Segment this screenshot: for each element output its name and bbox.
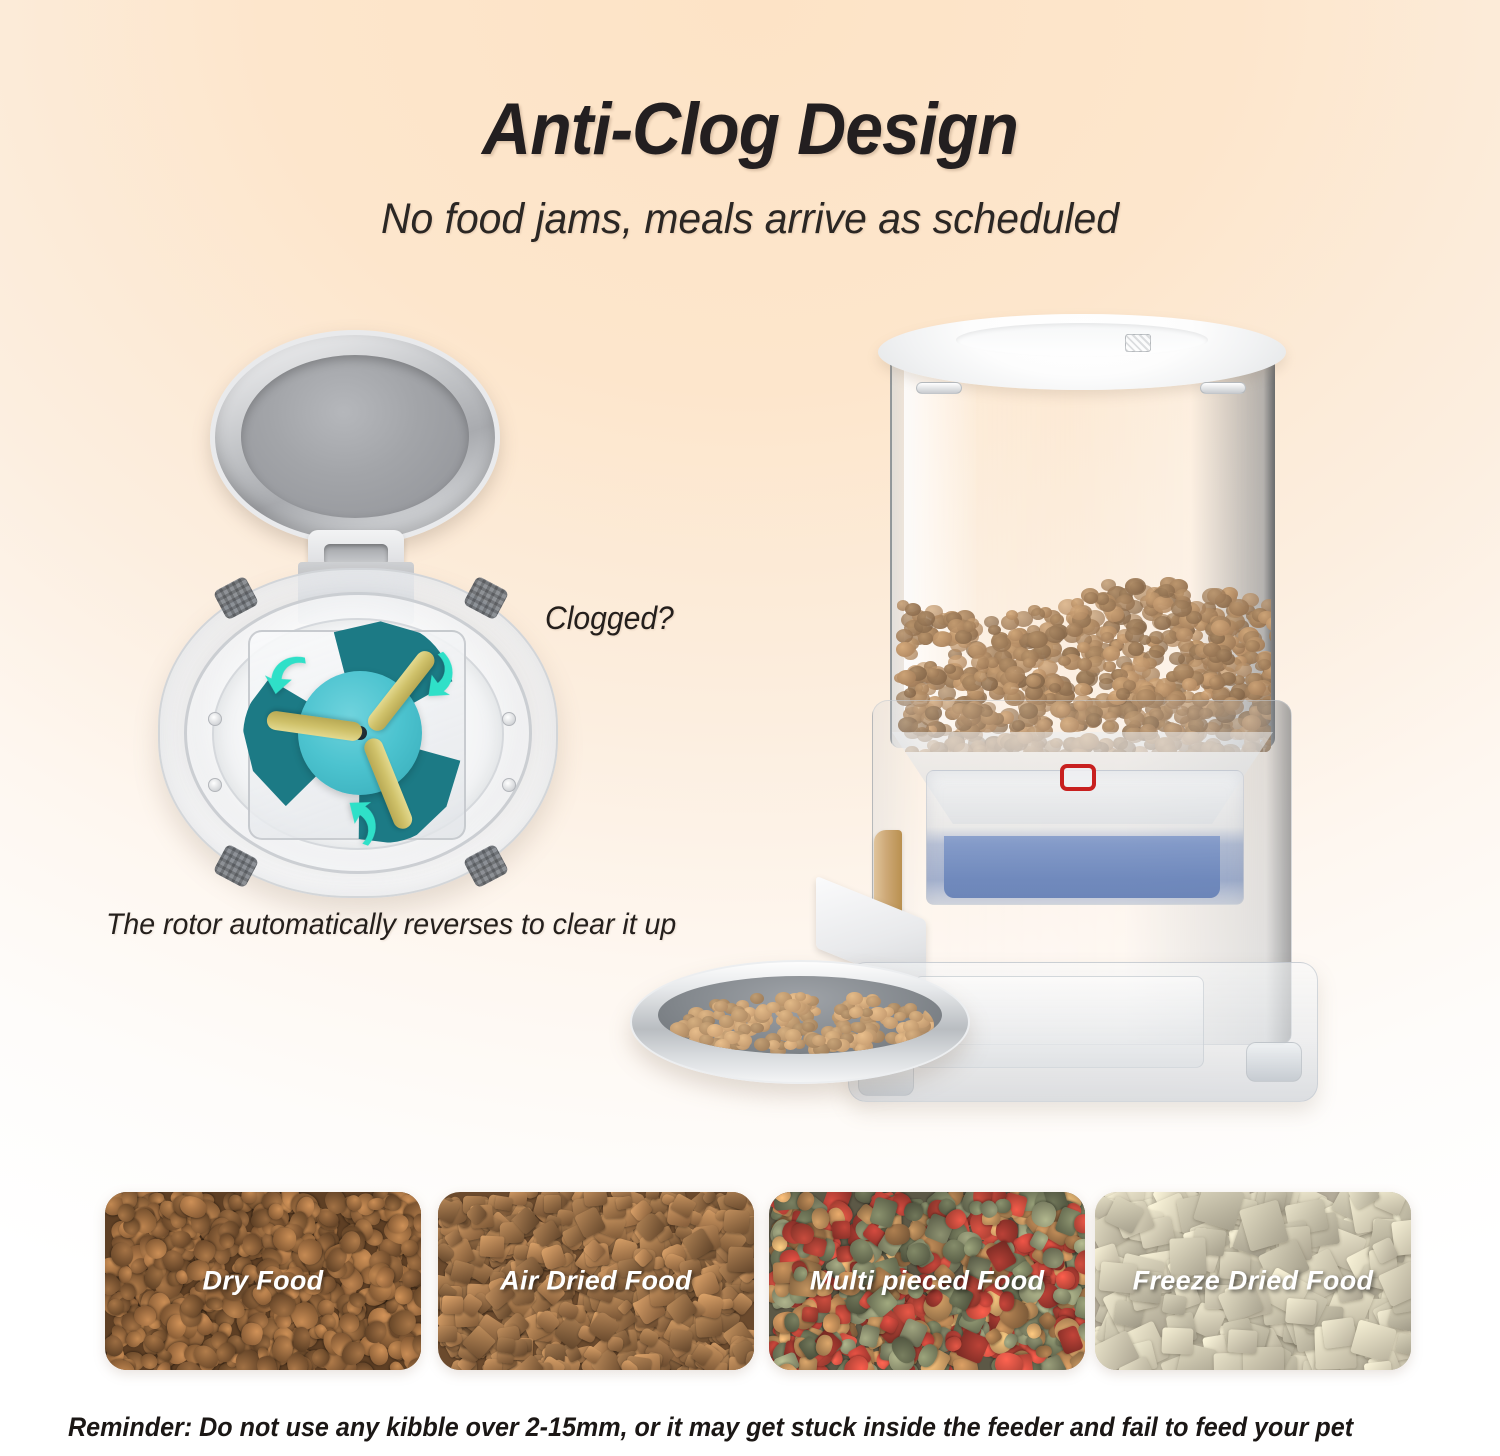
lid-inner-surface	[241, 355, 469, 518]
screw-icon	[208, 778, 222, 792]
food-card-multi-pieced-food[interactable]: Multi pieced Food	[769, 1192, 1085, 1370]
bowl-cavity	[658, 976, 942, 1054]
screw-icon	[502, 712, 516, 726]
lid-clip	[916, 382, 962, 394]
reminder-text: Reminder: Do not use any kibble over 2-1…	[68, 1412, 1370, 1443]
red-marker-icon	[1060, 764, 1096, 791]
base-foot	[1246, 1042, 1302, 1082]
rotor-caption: The rotor automatically reverses to clea…	[106, 908, 676, 942]
page-subtitle: No food jams, meals arrive as scheduled	[38, 195, 1463, 244]
food-type-card-row: Dry Food Air Dried Food Multi pieced Foo…	[105, 1192, 1405, 1372]
food-card-label: Freeze Dried Food	[1095, 1266, 1411, 1297]
food-card-label: Air Dried Food	[438, 1266, 754, 1297]
feeder-product-illustration	[620, 300, 1320, 1130]
lid-marking-icon	[1125, 334, 1151, 352]
rotor-illustration	[150, 330, 570, 890]
food-card-label: Dry Food	[105, 1266, 421, 1297]
food-card-dry-food[interactable]: Dry Food	[105, 1192, 421, 1370]
product-infographic: Anti-Clog Design No food jams, meals arr…	[0, 0, 1500, 1456]
food-card-air-dried-food[interactable]: Air Dried Food	[438, 1192, 754, 1370]
header-block: Anti-Clog Design No food jams, meals arr…	[0, 88, 1500, 244]
chamber-blue-rotor	[944, 836, 1220, 898]
feeder-lid-open	[210, 330, 500, 545]
screw-icon	[208, 712, 222, 726]
food-card-freeze-dried-food[interactable]: Freeze Dried Food	[1095, 1192, 1411, 1370]
screw-icon	[502, 778, 516, 792]
bowl-kibble-fill	[666, 984, 934, 1054]
food-card-label: Multi pieced Food	[769, 1266, 1085, 1297]
page-title: Anti-Clog Design	[53, 88, 1448, 171]
stainless-food-bowl	[630, 960, 970, 1084]
rotation-arrow-icon	[260, 645, 319, 704]
lid-clip	[1200, 382, 1246, 394]
feeder-top-lid	[878, 314, 1286, 390]
